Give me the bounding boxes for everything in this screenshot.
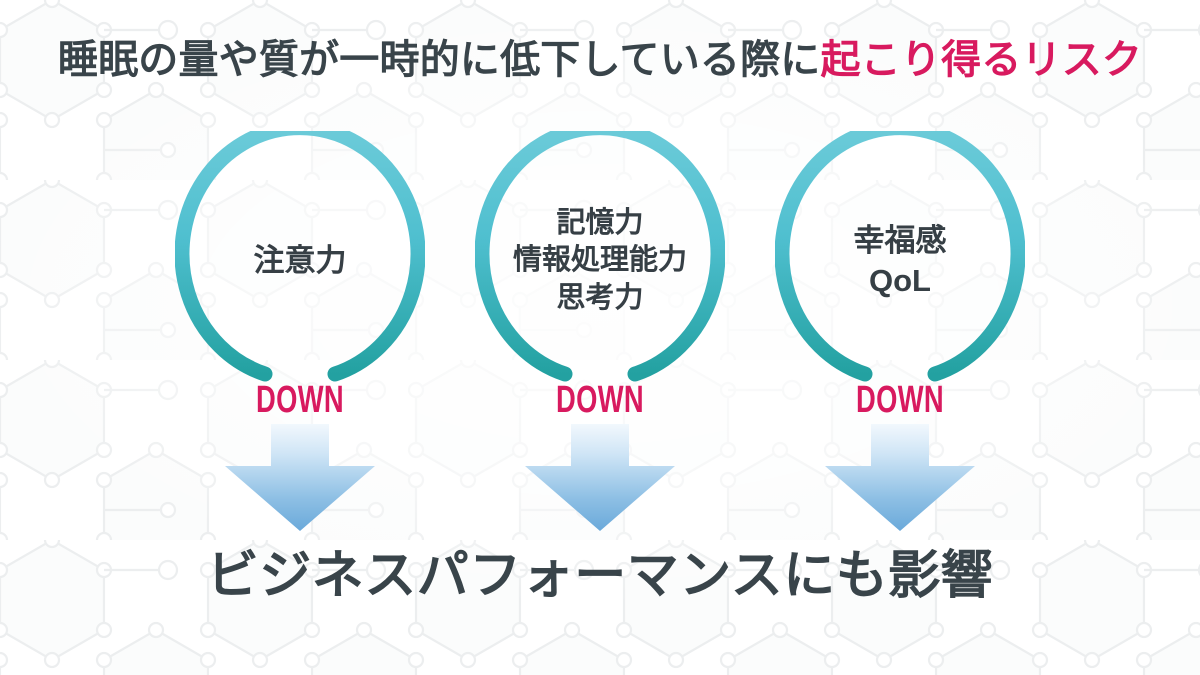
ring-line: 情報処理能力 [513,242,687,279]
down-label-attention: DOWN [192,379,408,422]
down-arrow-icon [523,424,677,532]
footer-text: ビジネスパフォーマンスにも影響 [207,547,993,605]
title: 睡眠の量や質が一時的に低下している際に起こり得るリスク [0,40,1200,80]
ring-cognition: 記憶力 情報処理能力 思考力 [475,131,725,391]
title-accent-text: 起こり得るリスク [821,38,1143,82]
risk-column-cognition: 記憶力 情報処理能力 思考力 DOWN [450,131,750,531]
slide-canvas: 睡眠の量や質が一時的に低下している際に起こり得るリスク 注意力 [0,0,1200,675]
down-arrow-attention [223,424,377,532]
down-label-wellbeing: DOWN [792,379,1008,422]
down-arrow-cognition [523,424,677,532]
down-arrow-wellbeing [823,424,977,532]
ring-line: 幸福感 [854,221,947,261]
ring-line: 注意力 [254,241,347,281]
ring-attention: 注意力 [175,131,425,391]
ring-wellbeing: 幸福感 QoL [775,131,1025,391]
down-arrow-icon [823,424,977,532]
ring-label-cognition: 記憶力 情報処理能力 思考力 [475,131,725,391]
risk-column-wellbeing: 幸福感 QoL DOWN [750,131,1050,531]
ring-label-attention: 注意力 [175,131,425,391]
risk-columns: 注意力 DOWN [0,131,1200,531]
down-label-cognition: DOWN [492,379,708,422]
ring-label-wellbeing: 幸福感 QoL [775,131,1025,391]
ring-line: 思考力 [556,280,643,317]
title-main-text: 睡眠の量や質が一時的に低下している際に [58,38,821,82]
footer-conclusion: ビジネスパフォーマンスにも影響 [0,550,1200,602]
ring-line: 記憶力 [556,205,643,242]
ring-line: QoL [869,261,931,301]
risk-column-attention: 注意力 DOWN [150,131,450,531]
down-arrow-icon [223,424,377,532]
